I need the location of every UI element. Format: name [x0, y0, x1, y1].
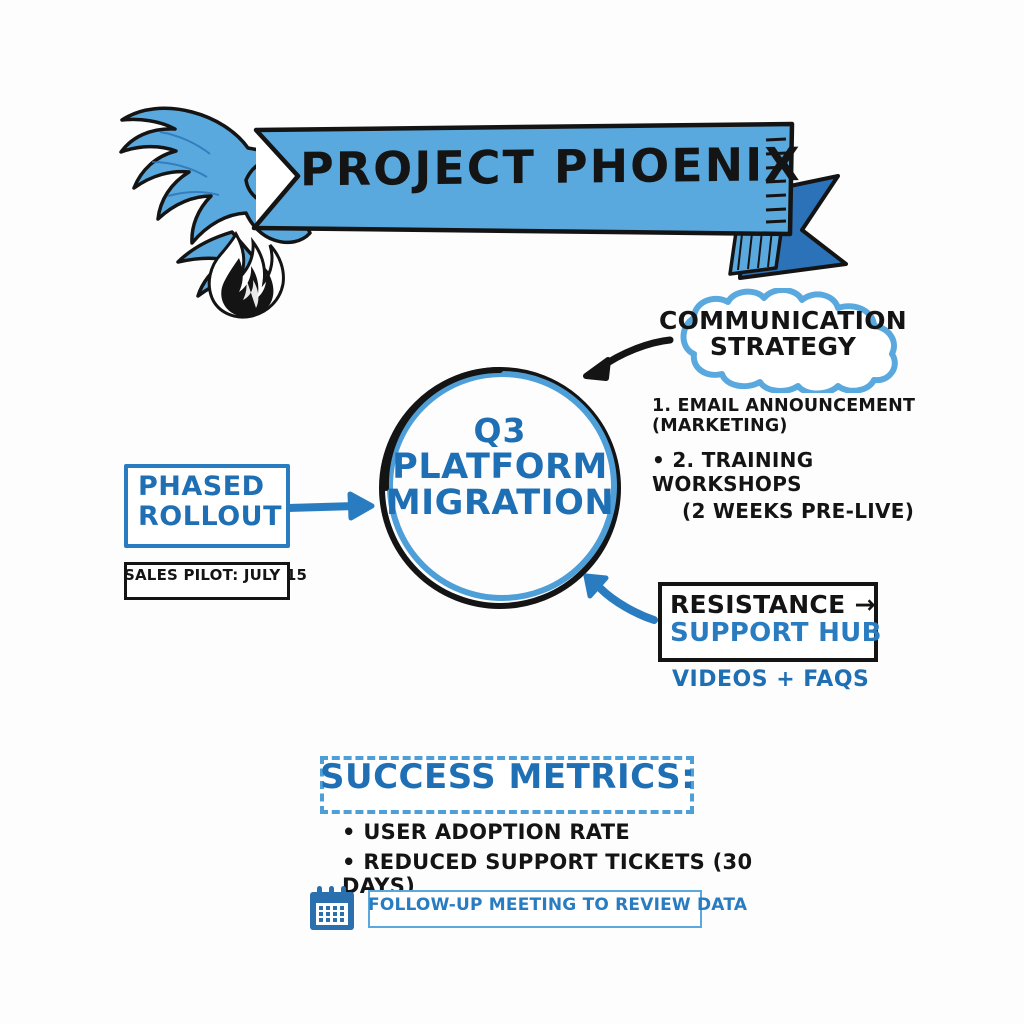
- list-item[interactable]: 1. EMAIL ANNOUNCEMENT (MARKETING): [652, 396, 952, 436]
- arrow-phased-to-circle: [288, 494, 372, 518]
- support-hub-sub-label: VIDEOS + FAQS: [672, 668, 869, 691]
- followup-meeting-label: FOLLOW-UP MEETING TO REVIEW DATA: [368, 897, 698, 915]
- resistance-label: RESISTANCE →: [670, 592, 876, 618]
- central-node-q3-platform-migration[interactable]: Q3 PLATFORM MIGRATION: [374, 362, 626, 614]
- center-line-1: Q3: [374, 414, 626, 449]
- center-line-2: PLATFORM: [374, 449, 626, 486]
- cloud-label: COMMUNICATION STRATEGY: [652, 308, 914, 361]
- cloud-line-1: COMMUNICATION: [652, 308, 914, 334]
- whiteboard-canvas: PROJECT PHOENIX Q3 PLATFORM MIGRATION: [0, 0, 1024, 1024]
- communication-strategy-cloud[interactable]: COMMUNICATION STRATEGY: [652, 288, 914, 393]
- sales-pilot-note-label: SALES PILOT: JULY 15: [124, 568, 284, 584]
- success-metrics-title: SUCCESS METRICS:: [320, 760, 686, 796]
- central-node-label: Q3 PLATFORM MIGRATION: [374, 414, 626, 522]
- center-line-3: MIGRATION: [374, 485, 626, 522]
- list-item[interactable]: • USER ADOPTION RATE: [342, 820, 762, 844]
- cloud-line-2: STRATEGY: [652, 334, 914, 360]
- list-item[interactable]: • 2. TRAINING WORKSHOPS (2 WEEKS PRE-LIV…: [652, 448, 952, 523]
- communication-items-list: 1. EMAIL ANNOUNCEMENT (MARKETING) • 2. T…: [652, 396, 952, 523]
- page-title: PROJECT PHOENIX: [300, 141, 750, 194]
- list-item-sub: (2 WEEKS PRE-LIVE): [682, 499, 952, 523]
- list-item-main: • 2. TRAINING WORKSHOPS: [652, 448, 813, 496]
- support-hub-label: SUPPORT HUB: [670, 620, 882, 647]
- phased-line-1: PHASED: [138, 472, 282, 502]
- phased-line-2: ROLLOUT: [138, 502, 282, 532]
- calendar-icon: [306, 884, 358, 932]
- phased-rollout-label: PHASED ROLLOUT: [124, 472, 282, 532]
